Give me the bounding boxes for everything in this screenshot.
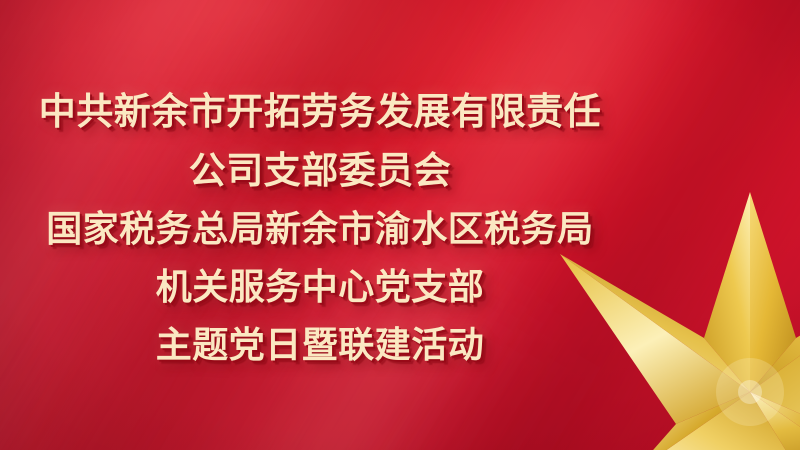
title-line-3: 国家税务总局新余市渝水区税务局 bbox=[46, 211, 594, 247]
title-text-block: 中共新余市开拓劳务发展有限责任 公司支部委员会 国家税务总局新余市渝水区税务局 … bbox=[0, 0, 640, 450]
title-line-2: 公司支部委员会 bbox=[189, 152, 452, 189]
banner-canvas: 中共新余市开拓劳务发展有限责任 公司支部委员会 国家税务总局新余市渝水区税务局 … bbox=[0, 0, 800, 450]
title-line-5: 主题党日暨联建活动 bbox=[156, 327, 485, 363]
title-line-4: 机关服务中心党支部 bbox=[156, 269, 485, 305]
title-line-1: 中共新余市开拓劳务发展有限责任 bbox=[39, 93, 602, 130]
